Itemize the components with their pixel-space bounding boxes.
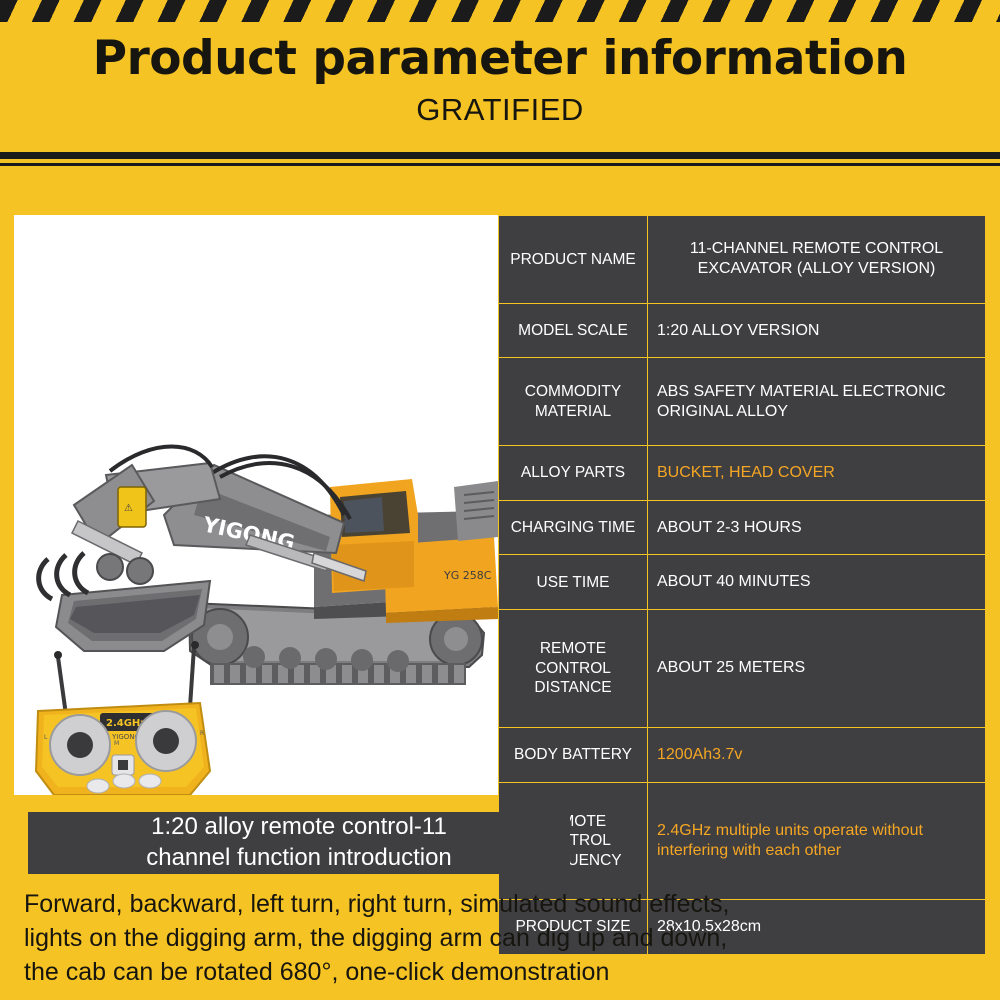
spec-value: BUCKET, HEAD COVER bbox=[648, 446, 986, 501]
spec-key: PRODUCT NAME bbox=[499, 216, 648, 304]
page-subtitle: GRATIFIED bbox=[416, 92, 584, 128]
table-row: USE TIME ABOUT 40 MINUTES bbox=[499, 555, 986, 610]
model-text: YG 258C bbox=[443, 569, 492, 582]
spec-key: COMMODITY MATERIAL bbox=[499, 358, 648, 446]
spec-value: ABOUT 25 METERS bbox=[648, 610, 986, 728]
function-intro-line1: 1:20 alloy remote control-11 bbox=[151, 813, 447, 840]
spec-key: MODEL SCALE bbox=[499, 303, 648, 358]
spec-value: 2.4GHz multiple units operate without in… bbox=[648, 782, 986, 900]
spec-key: ALLOY PARTS bbox=[499, 446, 648, 501]
svg-text:R: R bbox=[200, 730, 204, 737]
table-row: COMMODITY MATERIAL ABS SAFETY MATERIAL E… bbox=[499, 358, 986, 446]
spec-value: ABOUT 40 MINUTES bbox=[648, 555, 986, 610]
function-description: Forward, backward, left turn, right turn… bbox=[24, 888, 974, 989]
function-intro-banner: 1:20 alloy remote control-11 channel fun… bbox=[28, 812, 570, 874]
page-title: Product parameter information bbox=[93, 34, 908, 83]
content-area: YG 258C YIGONG bbox=[0, 166, 1000, 1000]
table-row: REMOTE CONTROL FREQUENCY 2.4GHz multiple… bbox=[499, 782, 986, 900]
table-row: ALLOY PARTS BUCKET, HEAD COVER bbox=[499, 446, 986, 501]
spec-table-body: PRODUCT NAME 11-CHANNEL REMOTE CONTROL E… bbox=[499, 216, 986, 955]
table-row: CHARGING TIME ABOUT 2-3 HOURS bbox=[499, 500, 986, 555]
table-row: PRODUCT NAME 11-CHANNEL REMOTE CONTROL E… bbox=[499, 216, 986, 304]
spec-value: ABOUT 2-3 HOURS bbox=[648, 500, 986, 555]
spec-value: 11-CHANNEL REMOTE CONTROL EXCAVATOR (ALL… bbox=[648, 216, 986, 304]
table-row: BODY BATTERY 1200Ah3.7v bbox=[499, 727, 986, 782]
excavator-cab bbox=[330, 479, 418, 593]
spec-key: CHARGING TIME bbox=[499, 500, 648, 555]
function-intro-line2: channel function introduction bbox=[146, 844, 452, 871]
header-divider bbox=[0, 152, 1000, 159]
spec-table: PRODUCT NAME 11-CHANNEL REMOTE CONTROL E… bbox=[498, 215, 986, 955]
spec-value: 1200Ah3.7v bbox=[648, 727, 986, 782]
spec-value: ABS SAFETY MATERIAL ELECTRONIC ORIGINAL … bbox=[648, 358, 986, 446]
function-intro-text: 1:20 alloy remote control-11 channel fun… bbox=[146, 812, 452, 873]
spec-key: REMOTE CONTROL DISTANCE bbox=[499, 610, 648, 728]
table-row: MODEL SCALE 1:20 ALLOY VERSION bbox=[499, 303, 986, 358]
description-line-1: Forward, backward, left turn, right turn… bbox=[24, 888, 974, 922]
spec-value: 1:20 ALLOY VERSION bbox=[648, 303, 986, 358]
svg-text:⚠: ⚠ bbox=[124, 503, 133, 514]
product-photo: YG 258C YIGONG bbox=[14, 215, 498, 795]
table-row: REMOTE CONTROL DISTANCE ABOUT 25 METERS bbox=[499, 610, 986, 728]
svg-text:M: M bbox=[114, 740, 119, 747]
page-header: Product parameter information GRATIFIED bbox=[0, 22, 1000, 152]
hazard-stripe-top bbox=[0, 0, 1000, 22]
description-line-2: lights on the digging arm, the digging a… bbox=[24, 922, 974, 956]
spec-key: BODY BATTERY bbox=[499, 727, 648, 782]
spec-key: USE TIME bbox=[499, 555, 648, 610]
description-line-3: the cab can be rotated 680°, one-click d… bbox=[24, 956, 974, 990]
